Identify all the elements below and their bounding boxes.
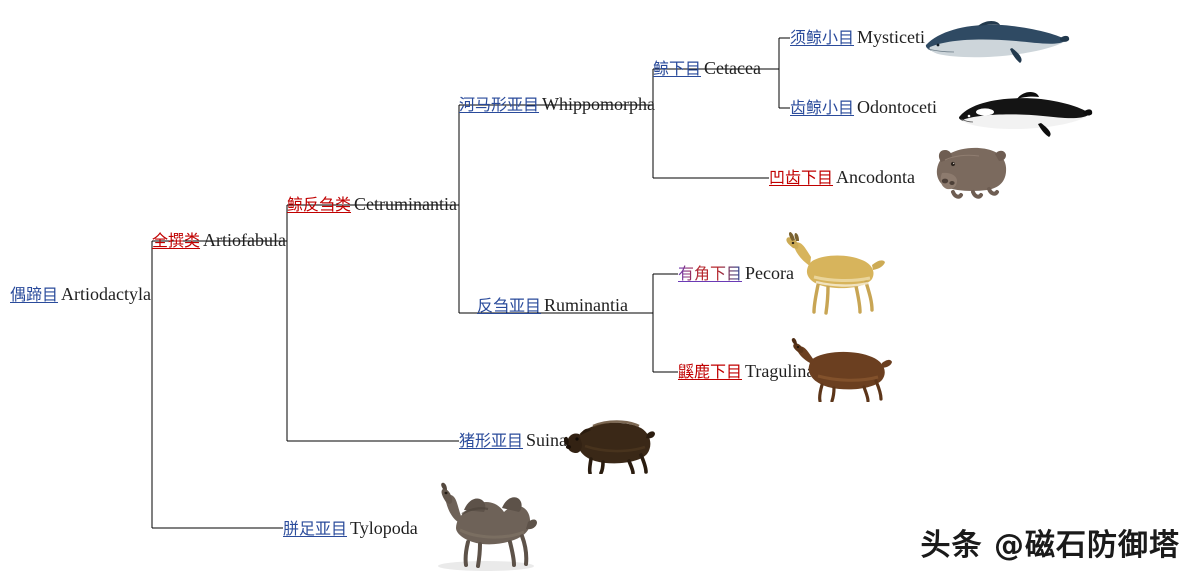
taxon-label-ruminantia[interactable]: 反刍亚目Ruminantia: [477, 296, 628, 315]
taxon-chinese-name: 凹齿下目: [769, 168, 833, 187]
taxon-chinese-name: 齿鲸小目: [790, 98, 854, 117]
taxon-label-odontoceti[interactable]: 齿鲸小目Odontoceti: [790, 98, 937, 117]
taxon-latin-name: Cetruminantia: [351, 194, 457, 214]
taxon-label-artiodactyla[interactable]: 偶蹄目Artiodactyla: [10, 285, 151, 304]
watermark-text: 头条 @磁石防御塔: [921, 520, 1180, 564]
taxon-label-suina[interactable]: 猪形亚目Suina: [459, 431, 567, 450]
animal-image-chevrotain: [790, 336, 894, 402]
taxon-latin-name: Suina: [523, 430, 567, 450]
animal-image-wild-boar: [563, 412, 655, 474]
taxon-latin-name: Artiofabula: [200, 230, 286, 250]
taxon-chinese-name: 鲸反刍类: [287, 195, 351, 214]
taxon-chinese-name: 鲸下目: [653, 59, 701, 78]
taxon-latin-name: Ruminantia: [541, 295, 628, 315]
taxon-latin-name: Tylopoda: [347, 518, 418, 538]
taxon-chinese-name: 偶蹄目: [10, 285, 58, 304]
taxon-chinese-name: 河马形亚目: [459, 95, 539, 114]
taxon-latin-name: Artiodactyla: [58, 284, 151, 304]
taxon-latin-name: Mysticeti: [854, 27, 925, 47]
taxon-chinese-name: 猪形亚目: [459, 431, 523, 450]
taxon-chinese-name: 须鲸小目: [790, 28, 854, 47]
taxon-label-cetacea[interactable]: 鲸下目Cetacea: [653, 59, 761, 78]
taxon-latin-name: Cetacea: [701, 58, 761, 78]
animal-image-hippopotamus: [933, 140, 1009, 200]
taxon-label-cetruminantia[interactable]: 鲸反刍类Cetruminantia: [287, 195, 457, 214]
taxon-label-artiofabula[interactable]: 全撰类Artiofabula: [152, 231, 286, 250]
cladogram-canvas: 偶蹄目Artiodactyla 全撰类Artiofabula 鲸反刍类Cetru…: [0, 0, 1202, 578]
taxon-chinese-name: 有角下目: [678, 264, 742, 283]
taxon-latin-name: Odontoceti: [854, 97, 937, 117]
watermark-handle: @磁石防御塔: [994, 528, 1180, 563]
taxon-label-whippomorpha[interactable]: 河马形亚目Whippomorpha: [459, 95, 655, 114]
watermark-prefix: 头条: [921, 528, 983, 563]
animal-image-gazelle: [780, 232, 888, 316]
animal-image-orca: [955, 90, 1093, 138]
taxon-latin-name: Ancodonta: [833, 167, 915, 187]
tree-branch-lines: [0, 0, 1202, 578]
taxon-chinese-name: 鼷鹿下目: [678, 362, 742, 381]
taxon-latin-name: Whippomorpha: [539, 94, 655, 114]
taxon-label-pecora[interactable]: 有角下目Pecora: [678, 264, 794, 283]
taxon-label-tylopoda[interactable]: 胼足亚目Tylopoda: [283, 519, 418, 538]
taxon-label-mysticeti[interactable]: 须鲸小目Mysticeti: [790, 28, 925, 47]
taxon-chinese-name: 胼足亚目: [283, 519, 347, 538]
taxon-chinese-name: 全撰类: [152, 231, 200, 250]
taxon-chinese-name: 反刍亚目: [477, 296, 541, 315]
animal-image-bactrian-camel: [424, 480, 544, 572]
taxon-label-ancodonta[interactable]: 凹齿下目Ancodonta: [769, 168, 915, 187]
animal-image-baleen-whale: [920, 18, 1070, 66]
